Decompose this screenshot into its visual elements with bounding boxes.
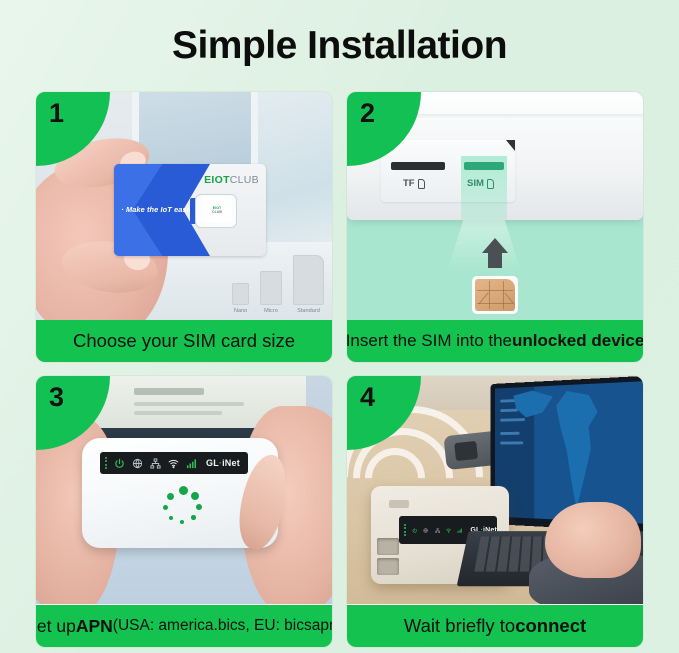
micro-sim-label: Micro — [260, 308, 282, 314]
caption-lead-3: Set up — [36, 616, 76, 637]
caption-lead-1: Choose your SIM card size — [73, 330, 295, 352]
lan-icon-4 — [435, 526, 440, 535]
tf-label-text: TF — [403, 178, 415, 189]
brand-club: CLUB — [230, 174, 259, 186]
chip-line-h2 — [477, 303, 513, 304]
battery-level-icon — [105, 457, 107, 470]
step-card-3[interactable]: GL·iNet 3 Set up APN (USA: america.b — [36, 376, 332, 647]
chip-line-v2 — [503, 281, 504, 309]
step-number-4: 4 — [360, 384, 375, 411]
tf-slot-label: TF — [403, 178, 425, 189]
nano-sim-label: Nano — [232, 308, 249, 314]
map-south-america — [551, 389, 606, 512]
standard-sim-label: Standard — [293, 308, 324, 314]
step-card-4[interactable]: GL·iNet 4 Wait briefly to connect — [347, 376, 643, 647]
sim-card-brand: EIOTCLUB — [204, 174, 259, 186]
monitor-text-line-1 — [134, 388, 204, 395]
sim-size-micro: Micro — [260, 271, 282, 314]
caption-bold-2: unlocked device — [512, 331, 643, 351]
globe-icon — [132, 458, 143, 469]
caption-lead-4: Wait briefly to — [404, 615, 515, 637]
step-number-3: 3 — [49, 384, 64, 411]
step-number-2: 2 — [360, 100, 375, 127]
power-icon — [114, 458, 125, 469]
sidebar-row-4 — [500, 432, 519, 435]
sidebar-row-5 — [500, 441, 523, 444]
ethernet-port-1 — [377, 538, 399, 555]
sim-slot-label: SIM — [467, 178, 494, 189]
laptop-screen-content — [495, 381, 643, 524]
signal-icon-4 — [457, 526, 462, 535]
battery-level-icon-4 — [404, 524, 406, 537]
loading-spinner-icon — [160, 486, 204, 530]
signal-icon — [186, 458, 197, 469]
sidebar-row-2 — [500, 409, 518, 412]
router-led-panel: GL·iNet — [100, 452, 248, 474]
sim-label-text: SIM — [467, 178, 484, 189]
window-pane-right — [258, 92, 332, 256]
caption-bold-4: connect — [515, 615, 586, 637]
step-card-1[interactable]: · Make the IoT easier · EIOTCLUB EIOT CL… — [36, 92, 332, 362]
power-icon-4 — [412, 526, 417, 535]
sim-chip-contacts — [475, 279, 515, 311]
step-caption-2: Insert the SIM into the unlocked device — [347, 320, 643, 362]
monitor-text-line-3 — [134, 411, 222, 415]
steps-grid: · Make the IoT easier · EIOTCLUB EIOT CL… — [36, 92, 643, 647]
sim-card-icon — [487, 179, 494, 189]
step-caption-4: Wait briefly to connect — [347, 605, 643, 647]
standard-sim-shape — [293, 255, 324, 305]
nano-sim-shape — [232, 283, 249, 305]
step-caption-3: Set up APN (USA: america.bics, EU: bicsa… — [36, 605, 332, 647]
sim-card-slot — [464, 162, 504, 170]
brand-eiot: EIOT — [204, 174, 230, 186]
page-title: Simple Installation — [0, 0, 679, 65]
caption-bold-3: APN — [76, 616, 113, 637]
sim-chip-graphic — [472, 276, 518, 314]
router-brand-label: GL·iNet — [206, 458, 240, 468]
step-number-1: 1 — [49, 100, 64, 127]
chip-line-h1 — [477, 290, 513, 291]
chip-line-v1 — [489, 281, 490, 309]
sim-size-chart: Nano Micro Standard — [232, 255, 324, 314]
ethernet-port-2 — [377, 558, 399, 575]
globe-icon-4 — [423, 526, 428, 535]
wifi-icon-4 — [446, 526, 451, 535]
sidebar-row-3 — [500, 418, 525, 422]
sim-size-standard: Standard — [293, 255, 324, 314]
sim-card: · Make the IoT easier · EIOTCLUB EIOT CL… — [114, 164, 266, 256]
micro-sim-shape — [260, 271, 282, 305]
monitor-text-line-2 — [134, 402, 244, 406]
tf-card-slot — [391, 162, 445, 170]
caption-trail-3: (USA: america.bics, EU: bicsapn) — [113, 617, 332, 635]
usb-port — [389, 500, 409, 508]
caption-lead-2: Insert the SIM into the — [347, 331, 512, 351]
sim-size-nano: Nano — [232, 283, 249, 314]
step-card-2[interactable]: TF SIM 2 — [347, 92, 643, 362]
step-caption-1: Choose your SIM card size — [36, 320, 332, 362]
lan-icon — [150, 458, 161, 469]
wifi-icon — [168, 458, 179, 469]
typing-hand — [545, 502, 641, 578]
tf-card-icon — [418, 179, 425, 189]
chip-text-bottom: CLUB — [212, 210, 222, 214]
sim-chip-label: EIOT CLUB — [202, 197, 232, 223]
